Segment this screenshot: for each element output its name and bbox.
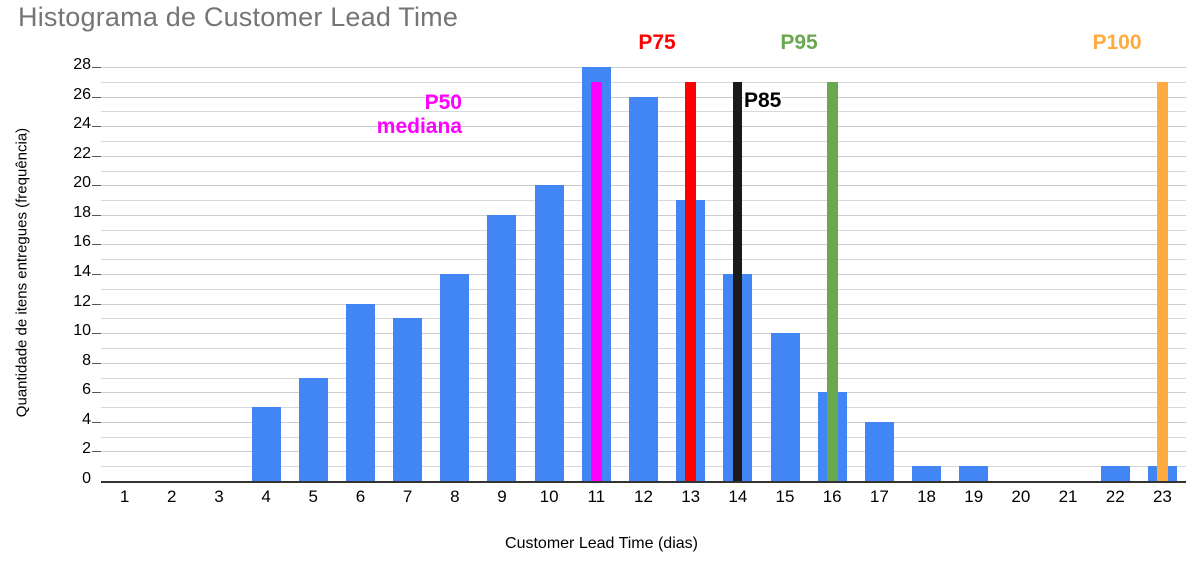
x-tick-label: 13 <box>669 487 713 507</box>
y-tick-label: 2 <box>57 440 91 458</box>
percentile-label-line1: P85 <box>744 89 781 113</box>
x-tick-label: 7 <box>386 487 430 507</box>
x-axis-title: Customer Lead Time (dias) <box>0 535 1203 553</box>
x-tick-label: 10 <box>527 487 571 507</box>
page-title: Histograma de Customer Lead Time <box>18 2 458 33</box>
y-tick-mark <box>92 451 101 452</box>
histogram-chart: Histograma de Customer Lead Time Quantid… <box>0 0 1203 565</box>
x-tick-label: 14 <box>716 487 760 507</box>
x-tick-label: 2 <box>150 487 194 507</box>
x-tick-label: 8 <box>433 487 477 507</box>
percentile-label-line1: P100 <box>1057 31 1177 55</box>
y-tick-mark <box>92 304 101 305</box>
percentile-line-p95 <box>827 82 838 481</box>
x-tick-label: 11 <box>574 487 618 507</box>
percentile-label-line1: P75 <box>597 31 717 55</box>
bar[interactable] <box>959 466 988 481</box>
percentile-label-p85: P85 <box>744 89 781 113</box>
bar[interactable] <box>440 274 469 481</box>
percentile-line-p85 <box>733 82 742 481</box>
percentile-line-p50 <box>591 82 602 481</box>
bar[interactable] <box>865 422 894 481</box>
y-tick-label: 14 <box>57 263 91 281</box>
bar[interactable] <box>912 466 941 481</box>
y-tick-label: 18 <box>57 204 91 222</box>
y-tick-label: 22 <box>57 145 91 163</box>
x-tick-label: 12 <box>622 487 666 507</box>
y-tick-mark <box>92 67 101 68</box>
x-tick-label: 3 <box>197 487 241 507</box>
y-tick-label: 10 <box>57 322 91 340</box>
bar[interactable] <box>346 304 375 481</box>
y-tick-label: 12 <box>57 293 91 311</box>
x-tick-label: 5 <box>291 487 335 507</box>
bar[interactable] <box>487 215 516 481</box>
x-tick-label: 21 <box>1046 487 1090 507</box>
y-tick-mark <box>92 422 101 423</box>
x-tick-label: 20 <box>999 487 1043 507</box>
gridline <box>101 67 1186 68</box>
x-tick-label: 1 <box>103 487 147 507</box>
bar[interactable] <box>299 378 328 482</box>
y-tick-mark <box>92 156 101 157</box>
percentile-label-line2: mediana <box>0 115 462 139</box>
y-tick-mark <box>92 333 101 334</box>
y-tick-label: 8 <box>57 352 91 370</box>
x-tick-label: 22 <box>1093 487 1137 507</box>
bar[interactable] <box>629 97 658 481</box>
x-tick-label: 19 <box>952 487 996 507</box>
x-axis-line <box>101 481 1186 483</box>
percentile-label-line1: P50 <box>0 91 462 115</box>
percentile-line-p100 <box>1157 82 1168 481</box>
y-tick-mark <box>92 274 101 275</box>
x-tick-label: 18 <box>905 487 949 507</box>
x-tick-label: 17 <box>857 487 901 507</box>
y-tick-label: 4 <box>57 411 91 429</box>
percentile-label-p50: P50mediana <box>0 91 462 138</box>
bar[interactable] <box>771 333 800 481</box>
y-tick-mark <box>92 244 101 245</box>
x-tick-label: 16 <box>810 487 854 507</box>
x-tick-label: 4 <box>244 487 288 507</box>
bar[interactable] <box>393 318 422 481</box>
percentile-line-p75 <box>685 82 696 481</box>
percentile-label-p95: P95 <box>739 31 859 55</box>
x-tick-label: 6 <box>338 487 382 507</box>
percentile-label-line1: P95 <box>739 31 859 55</box>
percentile-label-p75: P75 <box>597 31 717 55</box>
bar[interactable] <box>535 185 564 481</box>
bar[interactable] <box>252 407 281 481</box>
y-tick-mark <box>92 363 101 364</box>
percentile-label-p100: P100 <box>1057 31 1177 55</box>
y-tick-label: 20 <box>57 174 91 192</box>
x-tick-label: 15 <box>763 487 807 507</box>
y-tick-mark <box>92 215 101 216</box>
bar[interactable] <box>1101 466 1130 481</box>
gridline <box>101 82 1186 83</box>
y-tick-mark <box>92 185 101 186</box>
x-tick-label: 23 <box>1140 487 1184 507</box>
y-tick-label: 16 <box>57 233 91 251</box>
x-tick-label: 9 <box>480 487 524 507</box>
y-tick-label: 28 <box>57 56 91 74</box>
y-tick-label: 6 <box>57 381 91 399</box>
y-tick-mark <box>92 392 101 393</box>
y-tick-label: 0 <box>57 470 91 488</box>
